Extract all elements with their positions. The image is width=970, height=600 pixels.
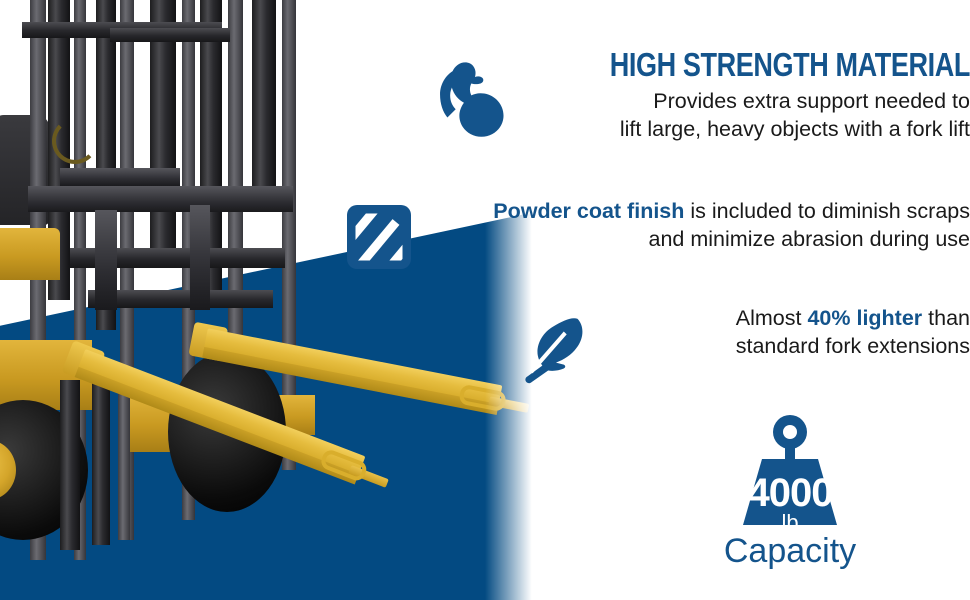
feature-text-strength: HIGH STRENGTH MATERIAL Provides extra su… [530,48,970,143]
feature-line: standard fork extensions [605,333,970,361]
feature-line: Provides extra support needed to [530,88,970,116]
feature-line: than [922,306,970,330]
forklift-mast [0,0,320,560]
feather-icon [505,305,605,389]
features-panel: HIGH STRENGTH MATERIAL Provides extra su… [330,0,970,600]
hydraulic-hose [52,118,98,164]
capacity-unit: lb [700,512,880,534]
feature-line: and minimize abrasion during use [428,226,970,254]
infographic-canvas: HIGH STRENGTH MATERIAL Provides extra su… [0,0,970,600]
capacity-value: 4000 [700,473,880,513]
powder-coat-hatch-icon [330,198,428,274]
feature-line: Almost [736,306,808,330]
feature-heading: HIGH STRENGTH MATERIAL [609,48,970,81]
feature-line: is included to diminish scraps [684,199,970,223]
feature-text-powder-coat: Powder coat finish is included to dimini… [428,198,970,254]
capacity-label: Capacity [700,533,880,570]
feature-text-lightweight: Almost 40% lighter than standard fork ex… [605,305,970,361]
feature-row-strength: HIGH STRENGTH MATERIAL Provides extra su… [420,48,970,146]
feature-line: lift large, heavy objects with a fork li… [530,116,970,144]
feature-row-powder-coat: Powder coat finish is included to dimini… [330,198,970,274]
flexed-bicep-icon [420,48,530,146]
feature-row-lightweight: Almost 40% lighter than standard fork ex… [505,305,970,389]
capacity-badge: 4000 lb Capacity [700,415,880,538]
feature-bold-text: Powder coat finish [493,199,684,223]
feature-bold-text: 40% lighter [807,306,922,330]
